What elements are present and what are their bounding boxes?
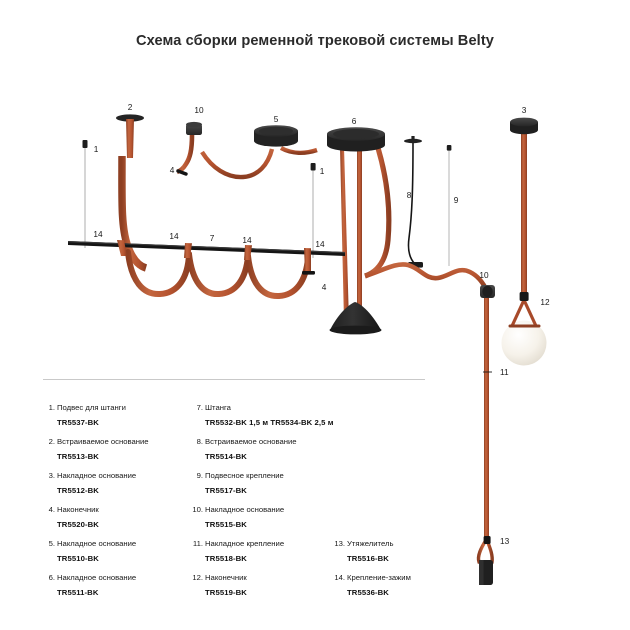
legend-code: TR5520-BK: [57, 521, 193, 529]
legend-num: 9.: [191, 472, 203, 480]
page-root: Схема сборки ременной трековой системы B…: [0, 0, 630, 630]
legend-label: Наконечник: [205, 573, 247, 582]
cone-shade: [330, 302, 382, 334]
callout-14-a: 14: [93, 229, 103, 239]
part-3-surface-base: [510, 118, 538, 293]
callout-9: 9: [454, 195, 459, 205]
legend-code: TR5532-BK 1,5 м TR5534-BK 2,5 м: [205, 419, 376, 427]
legend-item-13: 13.Утяжелитель TR5516-BK: [333, 540, 493, 562]
callout-6: 6: [352, 116, 357, 126]
legend-item-9: 9.Подвесное крепление TR5517-BK: [191, 472, 376, 494]
callout-13: 13: [500, 536, 510, 546]
legend-code: TR5536-BK: [347, 589, 493, 597]
legend-num: 7.: [191, 404, 203, 412]
callout-1-middle: 1: [320, 166, 325, 176]
part-10-surface-base-left: [177, 122, 202, 174]
legend-code: TR5513-BK: [57, 453, 193, 461]
legend-label: Накладное основание: [57, 471, 136, 480]
legend-item-6: 6.Накладное основание TR5511-BK: [43, 574, 193, 596]
callout-2: 2: [128, 102, 133, 112]
legend-item-10: 10.Накладное основание TR5515-BK: [191, 506, 376, 528]
assembly-diagram: 1 2 10 4 5 6 1 3 8 9 14 14 7 14 14 4 10 …: [0, 0, 630, 630]
legend-num: 12.: [191, 574, 203, 582]
legend-num: 3.: [43, 472, 55, 480]
legend-num: 11.: [191, 540, 203, 548]
part-8-recessed-base-cable: [404, 136, 423, 268]
callout-4-left: 4: [170, 165, 175, 175]
part-9-pendant-mount: [447, 145, 452, 266]
legend-code: TR5537-BK: [57, 419, 193, 427]
callout-7: 7: [210, 233, 215, 243]
legend-label: Накладное крепление: [205, 539, 284, 548]
legend-item-2: 2.Встраиваемое основание TR5513-BK: [43, 438, 193, 460]
belt-run-to-right-mount: [365, 264, 485, 287]
legend-label: Встраиваемое основание: [57, 437, 149, 446]
legend-code: TR5517-BK: [205, 487, 376, 495]
callout-14-d: 14: [315, 239, 325, 249]
legend-code: TR5510-BK: [57, 555, 193, 563]
legend-label: Наконечник: [57, 505, 99, 514]
legend-label: Накладное основание: [205, 505, 284, 514]
callout-8: 8: [407, 190, 412, 200]
legend-num: 4.: [43, 506, 55, 514]
part-1-rod-hanger-left: [83, 140, 88, 248]
callout-10-right: 10: [479, 270, 489, 280]
track-bar: [68, 241, 345, 256]
legend-item-7: 7.Штанга TR5532-BK 1,5 м TR5534-BK 2,5 м: [191, 404, 376, 426]
legend-num: 5.: [43, 540, 55, 548]
legend-num: 14.: [333, 574, 345, 582]
legend-code: TR5511-BK: [57, 589, 193, 597]
legend-item-14: 14.Крепление-зажим TR5536-BK: [333, 574, 493, 596]
legend-divider: [43, 379, 425, 380]
legend-label: Подвесное крепление: [205, 471, 284, 480]
part-10-surface-base-right: [480, 285, 495, 544]
callout-14-c: 14: [242, 235, 252, 245]
legend-code: TR5515-BK: [205, 521, 376, 529]
legend-code: TR5514-BK: [205, 453, 376, 461]
legend-item-3: 3.Накладное основание TR5512-BK: [43, 472, 193, 494]
legend-label: Подвес для штанги: [57, 403, 126, 412]
callout-5: 5: [274, 114, 279, 124]
legend-item-8: 8.Встраиваемое основание TR5514-BK: [191, 438, 376, 460]
legend-label: Утяжелитель: [347, 539, 393, 548]
legend-label: Крепление-зажим: [347, 573, 411, 582]
legend-label: Накладное основание: [57, 539, 136, 548]
part-14-clamp-d: [304, 248, 311, 272]
callout-10-left: 10: [194, 105, 204, 115]
legend-num: 8.: [191, 438, 203, 446]
legend-code: TR5516-BK: [347, 555, 493, 563]
callout-14-b: 14: [169, 231, 179, 241]
legend-num: 13.: [333, 540, 345, 548]
callout-12: 12: [540, 297, 550, 307]
callout-1-left: 1: [94, 144, 99, 154]
legend-num: 1.: [43, 404, 55, 412]
part-4-end-cap-middle: [302, 271, 315, 275]
legend-label: Встраиваемое основание: [205, 437, 297, 446]
legend-item-4: 4.Наконечник TR5520-BK: [43, 506, 193, 528]
legend-num: 6.: [43, 574, 55, 582]
part-6-surface-base-large: [327, 127, 389, 334]
part-7-track-bar-assembly: [68, 240, 345, 296]
legend-item-5: 5.Накладное основание TR5510-BK: [43, 540, 193, 562]
legend-num: 2.: [43, 438, 55, 446]
callout-3: 3: [522, 105, 527, 115]
callout-11: 11: [500, 367, 509, 377]
legend-num: 10.: [191, 506, 203, 514]
legend-label: Накладное основание: [57, 573, 136, 582]
callout-4-middle: 4: [322, 282, 327, 292]
legend-item-1: 1.Подвес для штанги TR5537-BK: [43, 404, 193, 426]
legend-code: TR5512-BK: [57, 487, 193, 495]
legend-label: Штанга: [205, 403, 231, 412]
part-5-surface-base: [202, 125, 317, 177]
